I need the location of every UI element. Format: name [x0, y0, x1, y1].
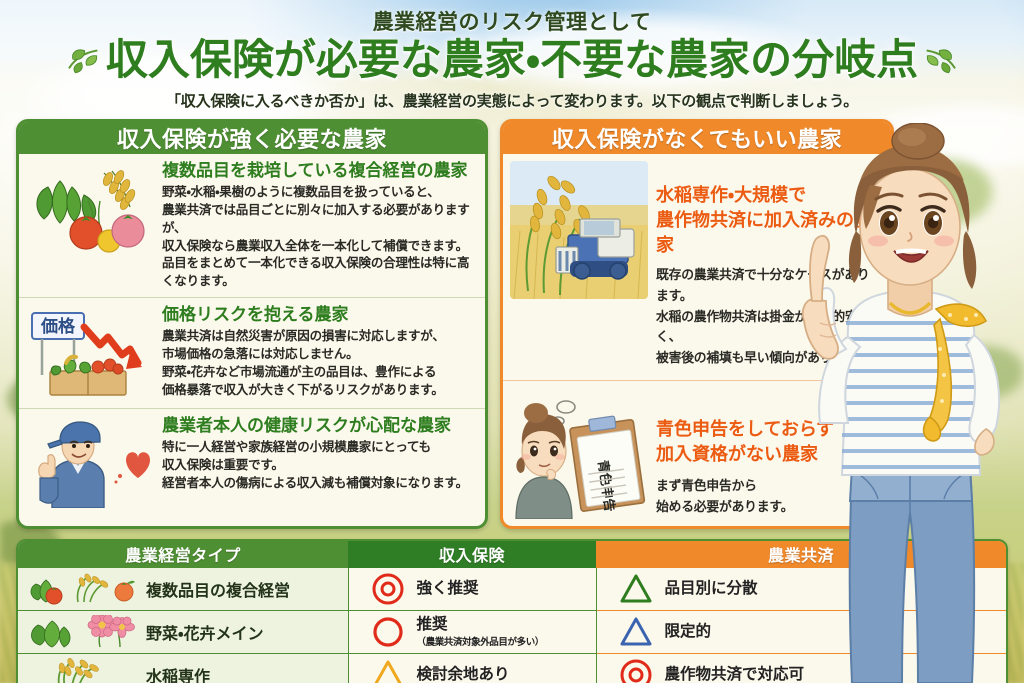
panel-notneed-item-1-text: 水稲専作・大規模で 農作物共済に加入済みの農家 既存の農業共済で十分なケースがあ… — [656, 161, 882, 370]
circle-icon — [371, 615, 405, 649]
double-circle-icon — [371, 572, 405, 606]
table-header-type: 農業経営タイプ — [18, 541, 348, 568]
rice-plant-icon — [28, 658, 140, 683]
comparison-table: 農業経営タイプ 収入保険 農業共済 — [16, 539, 1008, 683]
title-row: 収入保険が必要な農家・不要な農家の分岐点 — [0, 38, 1024, 83]
table-cell-insurance-note: （農業共済対象外品目が多い） — [417, 634, 544, 648]
table-cell-insurance-label: 検討余地あり — [417, 666, 510, 683]
panel-need-item-1: 複数品目を栽培している複合経営の農家 野菜・水稲・果樹のように複数品目を扱ってい… — [19, 154, 485, 297]
woman-clipboard-worried-illustration: 青色申告 — [510, 393, 648, 519]
panel-notneed-item-1: 水稲専作・大規模で 農作物共済に加入済みの農家 既存の農業共済で十分なケースがあ… — [503, 154, 891, 380]
header-kicker: 農業経営のリスク管理として — [0, 6, 1024, 36]
table-cell-type: 野菜・花卉メイン — [18, 611, 348, 654]
panel-notneed-item-2: 青色申告 青色申告をしておらず 加入資格がない農家 まず青色申告から 始める必要… — [503, 380, 891, 526]
panel-notneed-item-1-body: 既存の農業共済で十分なケースがあります。 水稲の農作物共済は掛金が比較的安く、 … — [656, 266, 882, 370]
table-cell-insurance-label: 強く推奨 — [417, 580, 479, 597]
table-cell-kyosai-label: 限定的 — [665, 623, 712, 640]
table-cell-type: 複数品目の複合経営 — [18, 568, 348, 611]
table-header-insurance: 収入保険 — [348, 541, 596, 568]
panel-need-item-3-text: 農業者本人の健康リスクが心配な農家 特に一人経営や家族経営の小規模農家にとっても… — [162, 416, 476, 492]
table-row: 野菜・花卉メイン 推奨 （農業共済対象外品目が多い） — [18, 611, 1006, 654]
table-cell-kyosai-label: 品目別に分散 — [665, 580, 758, 597]
leaf-sprig-icon — [66, 45, 100, 75]
table-cell-insurance: 強く推奨 — [348, 568, 596, 611]
panel-need-insurance: 収入保険が強く必要な農家 — [16, 119, 488, 529]
table-row: 複数品目の複合経営 強く推奨 — [18, 568, 1006, 611]
panel-need-item-2: 価格 価格リスクを抱える農家 農業共済は自然災害が原因の損 — [19, 297, 485, 408]
triangle-icon — [619, 572, 653, 606]
panel-need-item-1-title: 複数品目を栽培している複合経営の農家 — [162, 161, 476, 182]
table-cell-insurance: 推奨 （農業共済対象外品目が多い） — [348, 611, 596, 654]
table-header-kyosai: 農業共済 — [596, 541, 1006, 568]
triangle-icon — [619, 615, 653, 649]
panel-need-item-2-body: 農業共済は自然災害が原因の損害に対応しますが、 市場価格の急落には対応しません。… — [162, 327, 476, 398]
table-row: 水稲専作 検討余地あり — [18, 654, 1006, 683]
panel-notneed-item-2-body: まず青色申告から 始める必要があります。 — [656, 477, 882, 518]
panel-need-item-3-body: 特に一人経営や家族経営の小規模農家にとっても 収入保険は重要です。 経営者本人の… — [162, 438, 476, 491]
table-cell-insurance-label: 推奨 — [417, 616, 544, 633]
farmer-thumbsup-heart-illustration — [26, 416, 154, 508]
vegetables-rice-fruit-illustration — [26, 161, 154, 257]
page-title: 収入保険が必要な農家・不要な農家の分岐点 — [106, 38, 918, 83]
panel-notneed-item-2-title: 青色申告をしておらず 加入資格がない農家 — [656, 417, 882, 467]
panel-notneed-item-2-text: 青色申告をしておらず 加入資格がない農家 まず青色申告から 始める必要があります… — [656, 393, 882, 519]
page-header: 農業経営のリスク管理として 収入保険が必要な農家・不要な農家の分岐点 「収入保険… — [0, 0, 1024, 111]
panel-need-item-1-body: 野菜・水稲・果樹のように複数品目を扱っていると、 農業共済では品目ごとに別々に加… — [162, 183, 476, 290]
table-cell-kyosai: 品目別に分散 — [596, 568, 1006, 611]
table-header-row: 農業経営タイプ 収入保険 農業共済 — [18, 541, 1006, 568]
table-cell-kyosai: 限定的 — [596, 611, 1006, 654]
panel-need-item-3: 農業者本人の健康リスクが心配な農家 特に一人経営や家族経営の小規模農家にとっても… — [19, 408, 485, 515]
leaf-sprig-icon — [924, 45, 958, 75]
rice-combine-harvester-illustration — [510, 161, 648, 299]
veg-flower-icon — [28, 615, 140, 649]
header-subtitle: 「収入保険に入るべきか否か」は、農業経営の実態によって変わります。以下の観点で判… — [0, 90, 1024, 111]
double-circle-icon — [619, 658, 653, 683]
table-cell-type-label: 水稲専作 — [146, 663, 210, 683]
table-cell-kyosai-label: 農作物共済で対応可 — [665, 666, 805, 683]
panel-notneed-item-1-title: 水稲専作・大規模で 農作物共済に加入済みの農家 — [656, 183, 882, 259]
panel-need-item-3-title: 農業者本人の健康リスクが心配な農家 — [162, 416, 476, 437]
panel-no-insurance-needed: 収入保険がなくてもいい農家 — [500, 119, 894, 529]
table-cell-type: 水稲専作 — [18, 654, 348, 683]
table-cell-kyosai: 農作物共済で対応可 — [596, 654, 1006, 683]
triangle-icon — [371, 658, 405, 683]
table-cell-type-label: 野菜・花卉メイン — [146, 620, 263, 644]
panel-notneed-heading: 収入保険がなくてもいい農家 — [503, 122, 891, 154]
veg-rice-apple-icon — [28, 572, 140, 606]
panel-need-item-2-title: 価格リスクを抱える農家 — [162, 305, 476, 326]
svg-text:価格: 価格 — [40, 316, 76, 337]
table-cell-type-label: 複数品目の複合経営 — [146, 577, 290, 601]
panel-need-item-1-text: 複数品目を栽培している複合経営の農家 野菜・水稲・果樹のように複数品目を扱ってい… — [162, 161, 476, 290]
table-cell-insurance: 検討余地あり — [348, 654, 596, 683]
panels-row: 収入保険が強く必要な農家 — [0, 111, 1024, 529]
panel-need-heading: 収入保険が強く必要な農家 — [19, 122, 485, 154]
panel-need-item-2-text: 価格リスクを抱える農家 農業共済は自然災害が原因の損害に対応しますが、 市場価格… — [162, 305, 476, 399]
price-drop-crate-illustration: 価格 — [26, 305, 154, 401]
